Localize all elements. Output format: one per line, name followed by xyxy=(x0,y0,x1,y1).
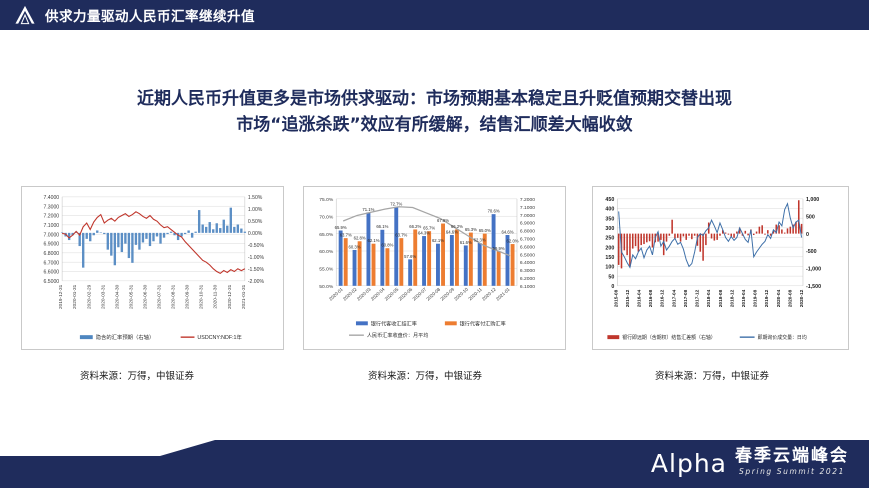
svg-text:2020-08: 2020-08 xyxy=(787,289,793,307)
svg-text:2015-08: 2015-08 xyxy=(613,289,619,307)
svg-text:70.0%: 70.0% xyxy=(319,214,334,220)
svg-text:60.3%: 60.3% xyxy=(349,244,361,249)
svg-text:2020-12: 2020-12 xyxy=(481,286,497,301)
svg-text:银行代客付汇购汇率: 银行代客付汇购汇率 xyxy=(460,319,506,327)
svg-text:6.3000: 6.3000 xyxy=(520,268,535,274)
svg-text:银行即远期（含期权）结售汇差额（右轴）: 银行即远期（含期权）结售汇差额（右轴） xyxy=(622,334,716,341)
svg-text:59.9%: 59.9% xyxy=(493,246,505,251)
svg-text:67.9%: 67.9% xyxy=(437,218,449,223)
svg-text:-500: -500 xyxy=(806,249,817,255)
svg-text:2018-12: 2018-12 xyxy=(729,289,735,307)
footer-brand-cn-wrap: 春季云端峰会 Spring Summit 2021 xyxy=(735,448,849,476)
svg-text:2020-04-30: 2020-04-30 xyxy=(114,284,120,309)
svg-text:USDCNY:NDF:1年: USDCNY:NDF:1年 xyxy=(197,333,242,341)
svg-text:2021-01: 2021-01 xyxy=(495,286,511,301)
svg-text:人民币汇率收盘价：月平均: 人民币汇率收盘价：月平均 xyxy=(367,331,429,339)
svg-text:150: 150 xyxy=(605,255,614,261)
svg-text:2020-12-31: 2020-12-31 xyxy=(227,284,233,309)
svg-text:350: 350 xyxy=(605,216,614,222)
svg-text:63.7%: 63.7% xyxy=(340,233,352,238)
svg-text:57.6%: 57.6% xyxy=(404,254,416,259)
svg-text:6.5000: 6.5000 xyxy=(43,279,59,285)
footer-brand-sub: Spring Summit 2021 xyxy=(739,467,845,476)
svg-text:2020-03: 2020-03 xyxy=(356,286,372,301)
svg-text:1.50%: 1.50% xyxy=(248,195,263,201)
source-caption-1: 资料来源：万得，中银证券 xyxy=(80,368,194,382)
svg-text:6.9000: 6.9000 xyxy=(43,242,59,248)
svg-text:0.00%: 0.00% xyxy=(248,231,263,237)
svg-text:0.50%: 0.50% xyxy=(248,219,263,225)
svg-text:62.1%: 62.1% xyxy=(432,238,444,243)
svg-text:7.0000: 7.0000 xyxy=(520,213,535,219)
charts-row: 7.40007.30007.20007.10007.00006.90006.80… xyxy=(0,186,869,351)
svg-text:64.3%: 64.3% xyxy=(418,230,430,235)
footer-brand-cn: 春季云端峰会 xyxy=(735,448,849,465)
footer-brand: Alpha 春季云端峰会 Spring Summit 2021 xyxy=(651,448,849,476)
svg-text:2020-05-31: 2020-05-31 xyxy=(128,284,134,309)
svg-text:200: 200 xyxy=(605,245,614,251)
svg-text:-0.50%: -0.50% xyxy=(248,243,265,249)
svg-text:50: 50 xyxy=(608,274,614,280)
svg-text:6.7000: 6.7000 xyxy=(520,237,535,243)
svg-text:60.8%: 60.8% xyxy=(381,243,393,248)
svg-text:6.7000: 6.7000 xyxy=(43,260,59,266)
svg-text:7.3000: 7.3000 xyxy=(43,204,59,210)
svg-text:75.0%: 75.0% xyxy=(319,197,334,203)
svg-text:65.0%: 65.0% xyxy=(319,232,334,238)
svg-text:2021-01-31: 2021-01-31 xyxy=(241,284,247,309)
svg-text:6.1000: 6.1000 xyxy=(520,284,535,290)
svg-text:100: 100 xyxy=(605,265,614,271)
header-title: 供求力量驱动人民币汇率继续升值 xyxy=(45,5,255,25)
svg-text:2019-12-31: 2019-12-31 xyxy=(58,284,64,309)
svg-text:2020-01-31: 2020-01-31 xyxy=(72,284,78,309)
svg-text:2020-08-31: 2020-08-31 xyxy=(171,284,177,309)
svg-text:66.2%: 66.2% xyxy=(451,224,463,229)
svg-text:6.4000: 6.4000 xyxy=(520,260,535,266)
chart-2-svg: 65.9%63.7%60.3%62.8%71.1%62.1%66.1%60.8%… xyxy=(304,187,565,349)
chart-3-svg: 450400350300250200150100500 1,0005000-50… xyxy=(593,187,848,349)
source-caption-3: 资料来源：万得，中银证券 xyxy=(655,368,769,382)
svg-text:2019-08: 2019-08 xyxy=(753,289,759,307)
svg-text:6.9000: 6.9000 xyxy=(520,221,535,227)
svg-text:6.2000: 6.2000 xyxy=(520,276,535,282)
svg-text:62.1%: 62.1% xyxy=(368,238,380,243)
svg-text:400: 400 xyxy=(605,207,614,213)
svg-text:2020-12: 2020-12 xyxy=(799,289,805,307)
svg-text:71.1%: 71.1% xyxy=(362,207,374,212)
svg-text:6.6000: 6.6000 xyxy=(43,270,59,276)
svg-text:2016-08: 2016-08 xyxy=(648,289,654,307)
footer-brand-alpha: Alpha xyxy=(651,451,727,476)
svg-text:6.8000: 6.8000 xyxy=(520,229,535,235)
svg-text:2020-06: 2020-06 xyxy=(398,286,414,301)
svg-text:65.3%: 65.3% xyxy=(465,227,477,232)
svg-text:50.0%: 50.0% xyxy=(319,284,334,290)
mountain-triangle-logo-icon xyxy=(14,5,36,25)
svg-text:6.8000: 6.8000 xyxy=(43,251,59,257)
svg-text:300: 300 xyxy=(605,226,614,232)
svg-text:61.6%: 61.6% xyxy=(460,240,472,245)
svg-text:72.7%: 72.7% xyxy=(390,201,402,206)
svg-text:2020-07: 2020-07 xyxy=(412,286,428,301)
svg-text:2017-08: 2017-08 xyxy=(683,289,689,307)
svg-text:66.1%: 66.1% xyxy=(376,224,388,229)
svg-text:7.2000: 7.2000 xyxy=(520,197,535,203)
svg-text:2015-12: 2015-12 xyxy=(625,289,631,307)
svg-text:2020-02-29: 2020-02-29 xyxy=(86,284,92,309)
svg-text:62.3%: 62.3% xyxy=(474,237,486,242)
svg-text:-1.50%: -1.50% xyxy=(248,267,265,273)
svg-text:2020-04: 2020-04 xyxy=(776,289,782,307)
svg-text:66.2%: 66.2% xyxy=(409,224,421,229)
svg-text:7.1000: 7.1000 xyxy=(520,205,535,211)
svg-text:65.9%: 65.9% xyxy=(335,225,347,230)
svg-text:7.2000: 7.2000 xyxy=(43,214,59,220)
svg-text:2020-10: 2020-10 xyxy=(453,286,469,301)
svg-text:-1,500: -1,500 xyxy=(806,284,821,290)
header-bar: 供求力量驱动人民币汇率继续升值 xyxy=(0,0,869,30)
svg-text:55.0%: 55.0% xyxy=(319,267,334,273)
svg-text:2020-04: 2020-04 xyxy=(370,286,386,301)
chart-panel-1: 7.40007.30007.20007.10007.00006.90006.80… xyxy=(21,186,284,350)
svg-text:64.6%: 64.6% xyxy=(501,229,513,234)
svg-text:64.6%: 64.6% xyxy=(446,229,458,234)
svg-text:2017-04: 2017-04 xyxy=(671,289,677,307)
svg-text:1,000: 1,000 xyxy=(806,197,819,203)
chart-panel-2: 65.9%63.7%60.3%62.8%71.1%62.1%66.1%60.8%… xyxy=(303,186,566,350)
svg-text:70.6%: 70.6% xyxy=(488,209,500,214)
svg-text:250: 250 xyxy=(605,236,614,242)
svg-text:-1,000: -1,000 xyxy=(806,267,821,273)
page-title: 近期人民币升值更多是市场供求驱动：市场预期基本稳定且升贬值预期交替出现 市场“追… xyxy=(0,86,869,139)
svg-text:2020-06-30: 2020-06-30 xyxy=(142,284,148,309)
source-caption-2: 资料来源：万得，中银证券 xyxy=(368,368,482,382)
svg-text:6.5000: 6.5000 xyxy=(520,252,535,258)
svg-text:60.0%: 60.0% xyxy=(319,249,334,255)
svg-text:2019-04: 2019-04 xyxy=(741,289,747,307)
footer: Alpha 春季云端峰会 Spring Summit 2021 xyxy=(0,440,869,488)
svg-text:即期询价成交量：日均: 即期询价成交量：日均 xyxy=(758,334,807,341)
svg-text:1.00%: 1.00% xyxy=(248,207,263,213)
svg-text:2016-04: 2016-04 xyxy=(636,289,642,307)
svg-text:2020-03-31: 2020-03-31 xyxy=(100,284,106,309)
svg-text:62.0%: 62.0% xyxy=(507,238,519,243)
page-title-line-1: 近期人民币升值更多是市场供求驱动：市场预期基本稳定且升贬值预期交替出现 xyxy=(0,86,869,112)
svg-text:7.0000: 7.0000 xyxy=(43,232,59,238)
page-title-line-2: 市场“追涨杀跌”效应有所缓解，结售汇顺差大幅收敛 xyxy=(0,112,869,138)
svg-text:7.4000: 7.4000 xyxy=(43,195,59,201)
svg-text:500: 500 xyxy=(806,214,815,220)
svg-text:2019-12: 2019-12 xyxy=(764,289,770,307)
svg-text:2016-12: 2016-12 xyxy=(660,289,666,307)
svg-text:2020-09: 2020-09 xyxy=(439,286,455,301)
chart-panel-3: 450400350300250200150100500 1,0005000-50… xyxy=(592,186,849,350)
svg-text:2020-11-30: 2020-11-30 xyxy=(213,284,219,308)
svg-text:银行代客收汇结汇率: 银行代客收汇结汇率 xyxy=(371,319,417,327)
svg-text:2017-12: 2017-12 xyxy=(695,289,701,307)
svg-text:2020-05: 2020-05 xyxy=(384,286,400,301)
svg-text:0: 0 xyxy=(806,232,809,238)
chart-1-svg: 7.40007.30007.20007.10007.00006.90006.80… xyxy=(22,187,283,349)
svg-text:63.7%: 63.7% xyxy=(395,233,407,238)
svg-text:62.8%: 62.8% xyxy=(354,236,366,241)
svg-text:0: 0 xyxy=(611,284,614,290)
svg-text:65.0%: 65.0% xyxy=(479,228,491,233)
svg-text:2018-04: 2018-04 xyxy=(706,289,712,307)
svg-text:2020-07-31: 2020-07-31 xyxy=(157,284,163,309)
svg-text:隐含的汇率预期（右轴）: 隐含的汇率预期（右轴） xyxy=(96,333,155,341)
svg-text:2020-08: 2020-08 xyxy=(425,286,441,301)
svg-text:2020-10-31: 2020-10-31 xyxy=(199,284,205,309)
svg-text:-2.00%: -2.00% xyxy=(248,279,265,285)
svg-text:2020-02: 2020-02 xyxy=(342,286,358,301)
svg-text:-1.00%: -1.00% xyxy=(248,255,265,261)
svg-text:450: 450 xyxy=(605,197,614,203)
svg-text:7.1000: 7.1000 xyxy=(43,223,59,229)
svg-text:2018-08: 2018-08 xyxy=(718,289,724,307)
svg-text:2020-11: 2020-11 xyxy=(467,286,483,301)
svg-text:6.6000: 6.6000 xyxy=(520,244,535,250)
svg-text:2020-09-30: 2020-09-30 xyxy=(185,284,191,309)
svg-text:65.7%: 65.7% xyxy=(423,226,435,231)
